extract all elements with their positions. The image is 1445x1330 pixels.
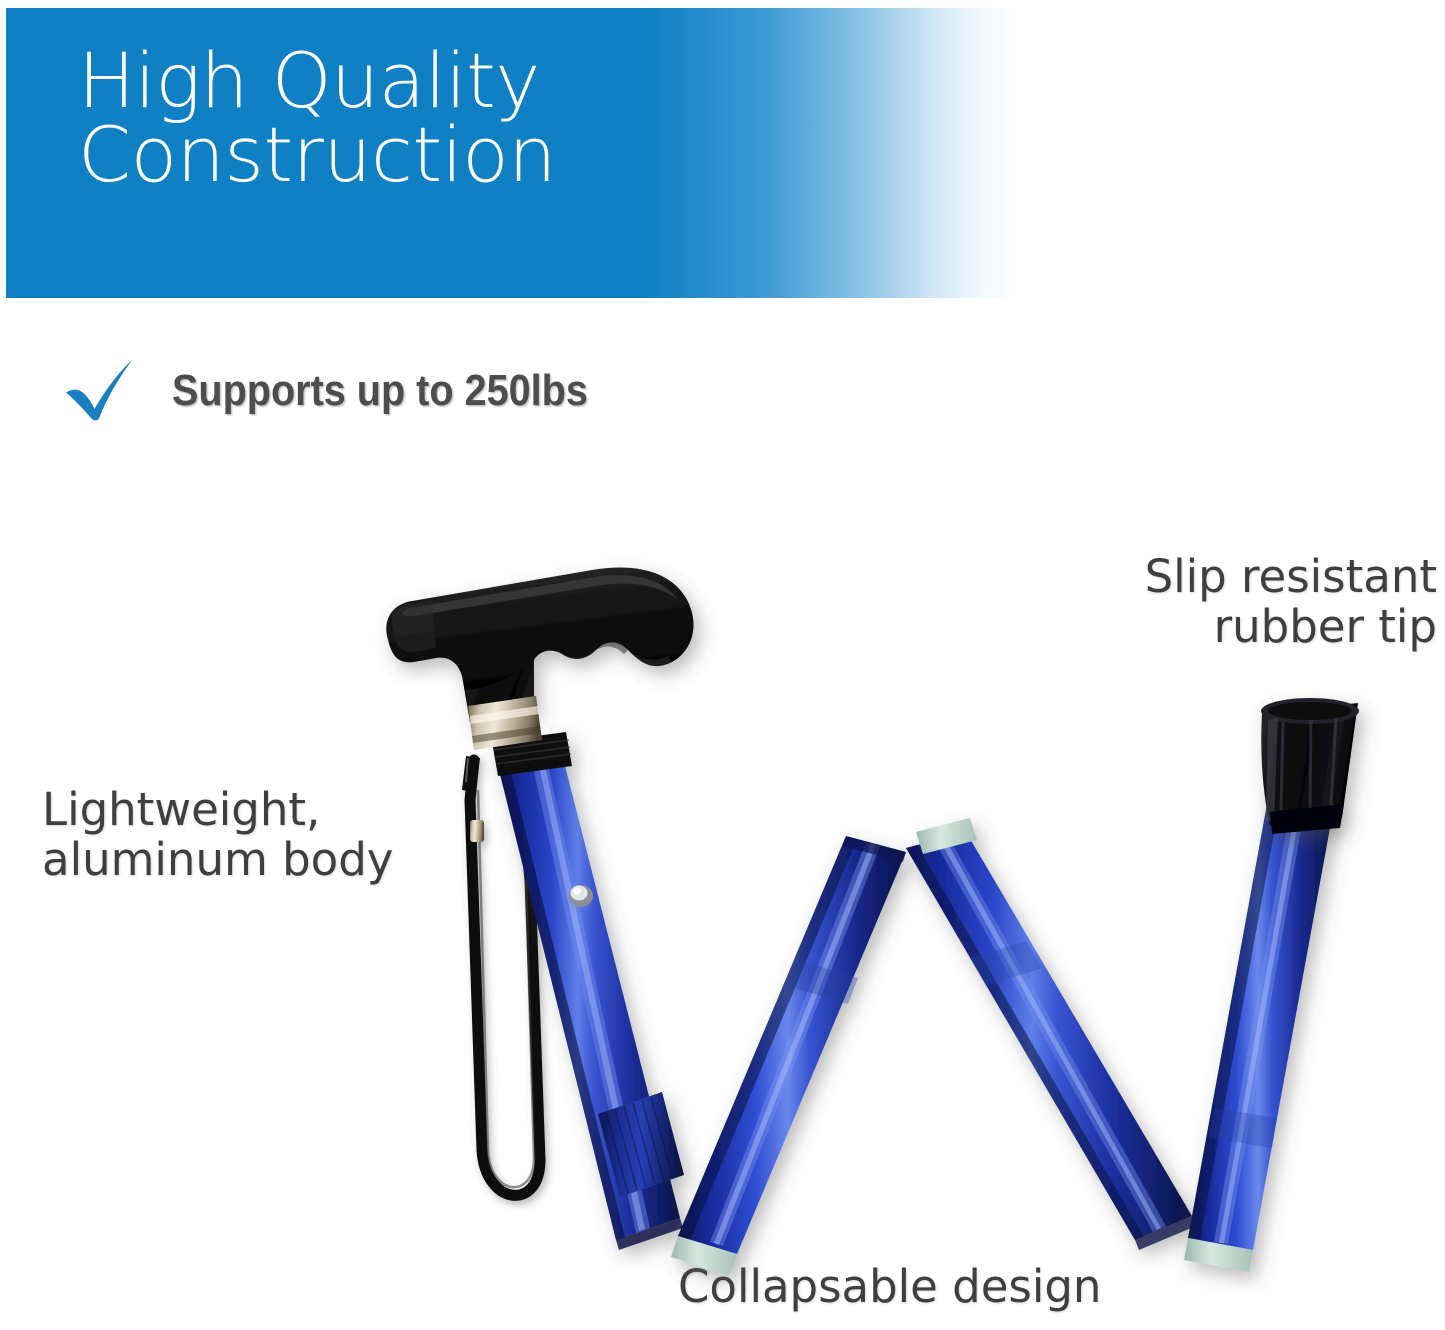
knurled-collar xyxy=(598,1092,684,1197)
infographic-page: High Quality Construction Supports up to… xyxy=(0,0,1445,1330)
rubber-tip xyxy=(1261,698,1359,834)
push-button xyxy=(569,885,593,907)
callout-lightweight-aluminum-body: Lightweight, aluminum body xyxy=(42,785,393,886)
shaft-segment-2 xyxy=(671,836,906,1276)
check-icon xyxy=(62,355,138,427)
header-banner: High Quality Construction xyxy=(6,8,1445,298)
rubber-grip-ring xyxy=(492,732,572,776)
page-title: High Quality Construction xyxy=(78,44,556,191)
strap-clasp xyxy=(462,756,480,792)
chrome-collar xyxy=(468,696,542,750)
callout-collapsable-design: Collapsable design xyxy=(678,1262,1101,1312)
wrist-strap xyxy=(462,756,540,1195)
callout-slip-resistant-rubber-tip: Slip resistant rubber tip xyxy=(1145,552,1437,653)
ferrule-ring-3 xyxy=(1184,1238,1253,1272)
derby-handle xyxy=(386,568,693,722)
feature-bullet-row: Supports up to 250lbs xyxy=(62,355,634,427)
feature-bullet-label: Supports up to 250lbs xyxy=(172,366,588,416)
strap-slider xyxy=(470,820,484,842)
shaft-segment-4 xyxy=(1184,793,1334,1272)
shaft-segment-3 xyxy=(906,818,1196,1250)
ferrule-ring-2 xyxy=(916,818,977,854)
shaft-segment-1 xyxy=(492,732,684,1250)
